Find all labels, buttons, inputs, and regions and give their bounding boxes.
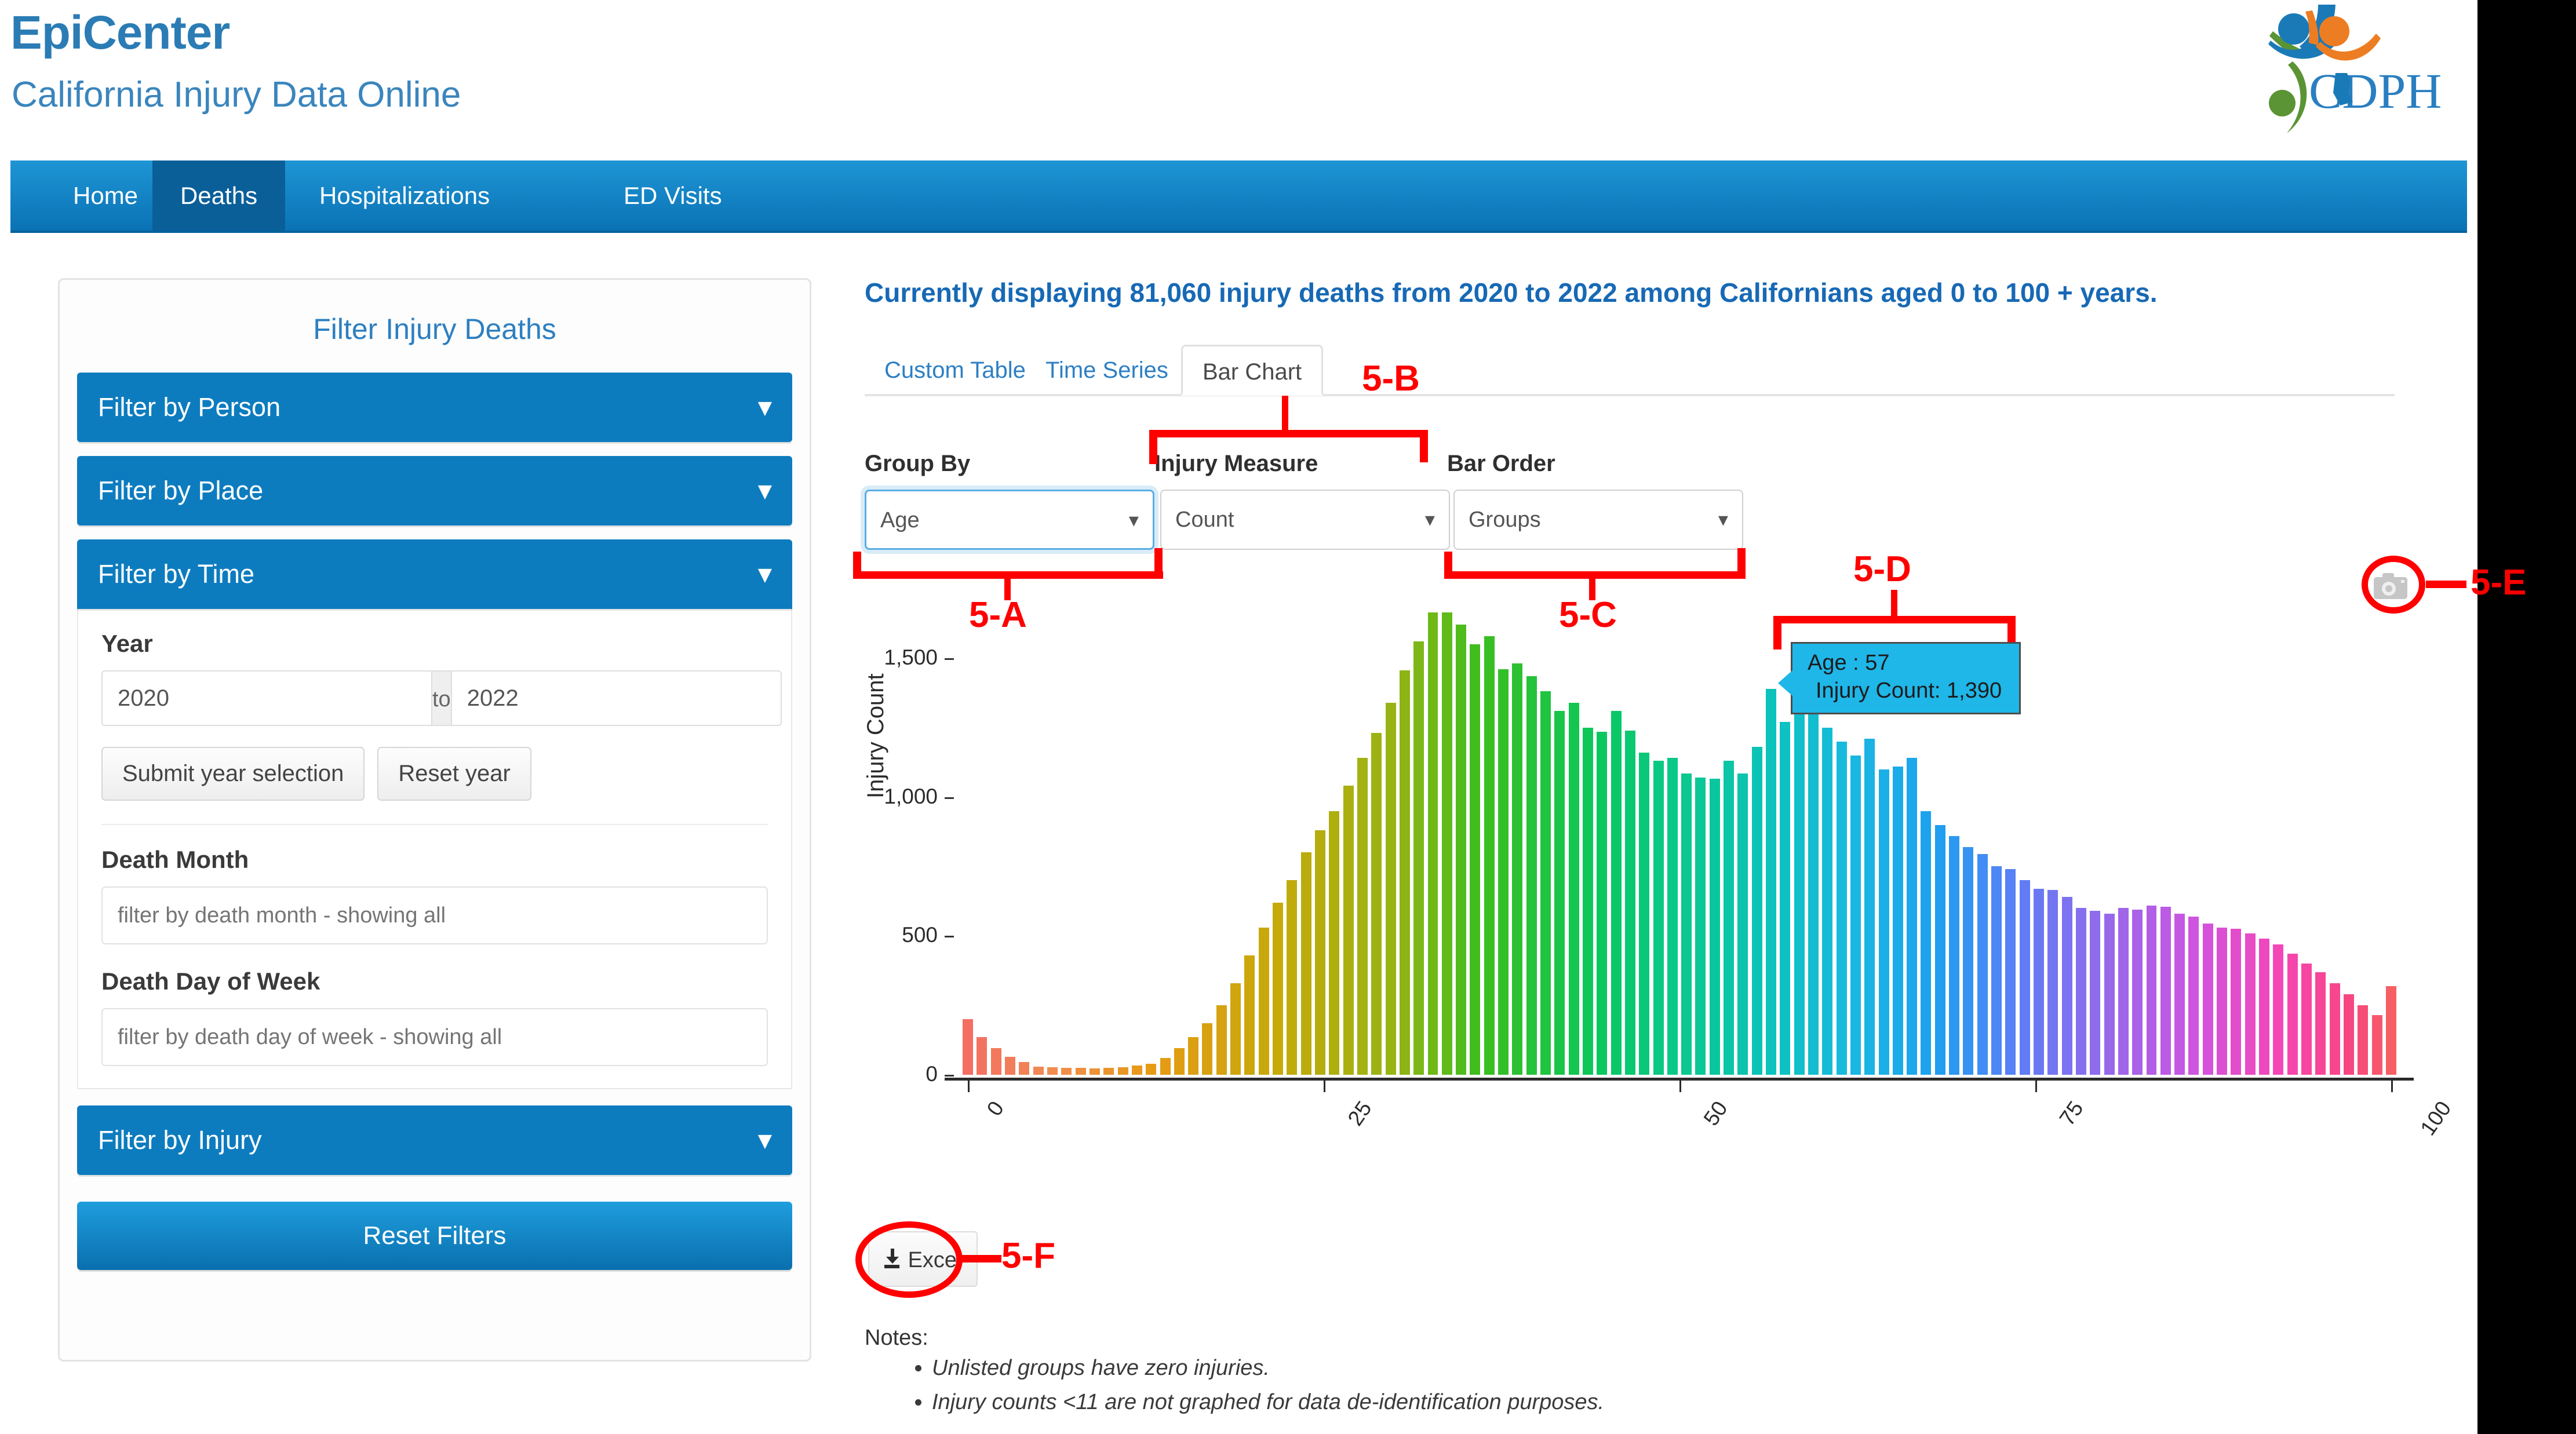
bar-chart-bar[interactable] <box>2259 939 2269 1075</box>
chevron-down-icon: ▾ <box>759 456 771 526</box>
accordion-label: Filter by Place <box>98 476 263 505</box>
bar-chart-bar[interactable] <box>1737 773 1748 1075</box>
annotation-5c-right <box>1737 548 1746 578</box>
bar-chart-bar[interactable] <box>1949 836 1959 1075</box>
bar-chart-bar[interactable] <box>1498 669 1509 1075</box>
x-axis-tick-mark <box>968 1081 970 1092</box>
bar-chart-bar[interactable] <box>1977 854 1988 1075</box>
bar-chart-bar[interactable] <box>1005 1057 1015 1075</box>
main-navigation: Home Deaths Hospitalizations ED Visits <box>10 160 2467 233</box>
bar-chart-bar[interactable] <box>1540 691 1551 1075</box>
bar-chart-bar[interactable] <box>1329 811 1339 1075</box>
bar-chart-bar[interactable] <box>1230 983 1241 1075</box>
bar-chart-bar[interactable] <box>1724 761 1734 1075</box>
chevron-down-icon: ▾ <box>1425 491 1435 549</box>
annotation-label-5c: 5-C <box>1559 594 1617 636</box>
bar-chart-bar[interactable] <box>991 1048 1001 1075</box>
bar-chart-bar[interactable] <box>1611 711 1622 1075</box>
x-axis-tick-label: 0 <box>982 1097 1009 1121</box>
note-item: Injury counts <11 are not graphed for da… <box>932 1390 1604 1415</box>
tooltip-count: Injury Count: 1,390 <box>1808 677 2002 705</box>
year-from-input[interactable] <box>101 670 432 726</box>
bar-chart-bar[interactable] <box>2160 907 2171 1075</box>
filter-by-time-panel: Year to Submit year selection Reset year… <box>77 609 792 1089</box>
tab-time-series[interactable]: Time Series <box>1026 345 1188 396</box>
bar-chart-bar[interactable] <box>2386 986 2396 1075</box>
bar-chart-bar[interactable] <box>1287 880 1297 1075</box>
annotation-5d-stem <box>1891 590 1897 618</box>
tab-bar-chart[interactable]: Bar Chart <box>1181 345 1323 396</box>
notes-title: Notes: <box>865 1326 928 1351</box>
y-axis-tick-label: 500 <box>863 923 938 947</box>
y-axis-tick-mark <box>945 797 954 799</box>
bar-chart-bar[interactable] <box>2062 897 2072 1075</box>
bar-chart-bar[interactable] <box>1808 708 1819 1075</box>
bar-chart-bar[interactable] <box>2301 964 2312 1075</box>
bar-chart-bar[interactable] <box>1583 728 1593 1075</box>
bar-chart-bar[interactable] <box>1413 641 1424 1075</box>
bar-chart-bar[interactable] <box>2076 908 2086 1075</box>
bar-chart-bar[interactable] <box>2147 906 2157 1075</box>
bar-chart-bar[interactable] <box>1991 866 2002 1075</box>
bar-chart-bar[interactable] <box>2005 869 2016 1075</box>
annotation-5e-leader <box>2426 581 2466 588</box>
annotation-label-5b: 5-B <box>1362 358 1420 399</box>
bar-chart-bar[interactable] <box>1188 1037 1198 1075</box>
bar-chart-bar[interactable] <box>1061 1068 1072 1075</box>
accordion-filter-by-time[interactable]: Filter by Time ▾ <box>77 539 792 609</box>
bar-chart-bar[interactable] <box>1963 847 1973 1075</box>
bar-chart-bar[interactable] <box>1653 761 1664 1075</box>
bar-chart-bar[interactable] <box>2203 924 2213 1075</box>
y-axis-tick-label: 1,000 <box>863 784 938 809</box>
y-axis-tick-mark <box>945 936 954 937</box>
bar-chart-bar[interactable] <box>1357 758 1368 1075</box>
bar-chart-bar[interactable] <box>1639 753 1649 1075</box>
bar-chart-bar[interactable] <box>2372 1015 2382 1075</box>
bar-chart-bar[interactable] <box>963 1019 973 1075</box>
bar-chart-bar[interactable] <box>1146 1064 1156 1075</box>
bar-chart-bar[interactable] <box>1400 670 1410 1075</box>
year-to-input[interactable] <box>451 670 782 726</box>
year-label: Year <box>101 630 768 658</box>
y-axis-tick-label: 1,500 <box>863 645 938 670</box>
bar-chart[interactable]: Injury Count 05001,0001,500 0255075100 <box>863 579 2417 1188</box>
view-tabs: Custom Table Time Series Bar Chart <box>865 345 2395 396</box>
bar-chart-bar[interactable] <box>1921 811 1931 1075</box>
annotation-5b-right <box>1420 430 1428 462</box>
year-buttons-row: Submit year selection Reset year <box>101 747 768 801</box>
x-axis-tick-label: 50 <box>1699 1097 1733 1130</box>
bar-chart-bar[interactable] <box>1907 758 1917 1075</box>
bar-chart-bar[interactable] <box>1837 742 1847 1075</box>
bar-chart-bar[interactable] <box>2118 908 2129 1075</box>
bar-chart-bar[interactable] <box>1597 732 1607 1075</box>
bar-chart-bar[interactable] <box>2245 933 2256 1075</box>
bar-chart-bar[interactable] <box>1864 739 1875 1075</box>
viewport-right-band <box>2477 0 2576 1434</box>
bar-chart-bar[interactable] <box>2231 929 2241 1075</box>
accordion-label: Filter by Person <box>98 392 280 422</box>
bar-chart-plot <box>961 603 2398 1075</box>
bar-chart-bar[interactable] <box>2174 914 2185 1075</box>
accordion-label: Filter by Time <box>98 559 254 589</box>
camera-icon <box>2373 571 2409 600</box>
bar-chart-bar[interactable] <box>977 1037 987 1075</box>
bar-chart-bar[interactable] <box>1625 731 1635 1075</box>
annotation-5b-stem <box>1282 396 1288 432</box>
bar-chart-bar[interactable] <box>2217 928 2227 1075</box>
bar-chart-bar[interactable] <box>1752 747 1762 1075</box>
bar-chart-bar[interactable] <box>1343 786 1354 1075</box>
bar-chart-bar[interactable] <box>2315 972 2326 1075</box>
bar-chart-bar[interactable] <box>1569 703 1579 1075</box>
camera-button[interactable] <box>2367 568 2414 604</box>
bar-order-label: Bar Order <box>1447 451 1555 477</box>
bar-chart-bar[interactable] <box>1273 903 1283 1075</box>
bar-chart-bar[interactable] <box>1371 733 1382 1075</box>
bar-chart-bar[interactable] <box>2330 983 2340 1075</box>
tooltip-age: Age : 57 <box>1808 650 2002 677</box>
bar-chart-bar[interactable] <box>1681 773 1692 1075</box>
x-axis-tick-mark <box>2391 1081 2393 1092</box>
bar-chart-bar[interactable] <box>2344 994 2354 1075</box>
bar-chart-bar[interactable] <box>2034 889 2044 1075</box>
y-axis-label: Injury Count <box>863 673 889 798</box>
bar-chart-bar[interactable] <box>1766 689 1776 1075</box>
chevron-down-icon: ▾ <box>1718 491 1728 549</box>
death-day-of-week-label: Death Day of Week <box>101 968 768 995</box>
x-axis-tick-label: 100 <box>2415 1097 2456 1140</box>
nav-item-home[interactable]: Home <box>45 160 166 231</box>
cdph-logo: CDPH <box>2237 5 2469 144</box>
bar-chart-bar[interactable] <box>1315 830 1325 1075</box>
group-by-label: Group By <box>865 451 970 477</box>
bar-chart-bar[interactable] <box>2188 917 2199 1075</box>
note-item: Unlisted groups have zero injuries. <box>932 1356 1604 1381</box>
bar-chart-bar[interactable] <box>2358 1005 2368 1075</box>
x-axis-tick-mark <box>1324 1081 1325 1092</box>
annotation-5b-left <box>1149 437 1157 464</box>
brand-subtitle: California Injury Data Online <box>12 74 461 115</box>
svg-text:CDPH: CDPH <box>2309 63 2442 119</box>
brand-title: EpiCenter <box>10 6 229 60</box>
bar-chart-bar[interactable] <box>1442 612 1452 1075</box>
death-month-input[interactable] <box>101 886 768 944</box>
death-month-label: Death Month <box>101 846 768 874</box>
annotation-label-5a: 5-A <box>969 594 1027 636</box>
accordion-filter-by-person[interactable]: Filter by Person ▾ <box>77 373 792 442</box>
nav-item-ed-visits[interactable]: ED Visits <box>596 160 750 231</box>
page-header: EpiCenter California Injury Data Online … <box>0 0 2477 158</box>
group-by-select[interactable]: Age ▾ <box>865 490 1154 550</box>
bar-chart-bar[interactable] <box>1935 825 1945 1075</box>
chevron-down-icon: ▾ <box>759 373 771 442</box>
bar-chart-bar[interactable] <box>1822 728 1832 1075</box>
bar-chart-bar[interactable] <box>1202 1023 1212 1075</box>
y-axis-tick-mark <box>945 1075 954 1077</box>
y-axis-tick-mark <box>945 658 954 660</box>
bar-chart-bar[interactable] <box>2047 890 2058 1075</box>
bar-chart-bar[interactable] <box>1470 644 1480 1075</box>
bar-chart-bar[interactable] <box>1780 722 1790 1075</box>
bar-chart-bar[interactable] <box>2273 944 2283 1075</box>
bar-chart-bar[interactable] <box>1244 955 1255 1075</box>
accordion-filter-by-place[interactable]: Filter by Place ▾ <box>77 456 792 526</box>
bar-chart-bar[interactable] <box>1526 676 1537 1075</box>
x-axis-tick-label: 25 <box>1343 1097 1377 1130</box>
bar-chart-bar[interactable] <box>1174 1048 1185 1075</box>
bar-chart-bar[interactable] <box>2090 911 2100 1075</box>
death-day-of-week-input[interactable] <box>101 1008 768 1066</box>
chevron-down-icon: ▾ <box>759 1105 771 1175</box>
notes-list: Unlisted groups have zero injuries. Inju… <box>911 1356 1604 1424</box>
annotation-5f-ellipse <box>855 1221 963 1298</box>
bar-order-select[interactable]: Groups ▾ <box>1453 490 1743 550</box>
injury-measure-label: Injury Measure <box>1154 451 1318 477</box>
x-axis-tick-mark <box>1679 1081 1681 1092</box>
divider <box>101 824 768 825</box>
bar-chart-bar[interactable] <box>1076 1068 1086 1075</box>
bar-chart-bar[interactable] <box>2287 954 2298 1075</box>
tab-custom-table[interactable]: Custom Table <box>865 345 1045 396</box>
x-axis-tick-mark <box>2035 1081 2037 1092</box>
accordion-filter-by-injury[interactable]: Filter by Injury ▾ <box>77 1105 792 1175</box>
bar-chart-bar[interactable] <box>1879 769 1889 1075</box>
bar-chart-bar[interactable] <box>1118 1067 1128 1075</box>
bar-chart-bar[interactable] <box>1794 714 1805 1075</box>
annotation-5a-right <box>1154 548 1163 578</box>
bar-chart-bar[interactable] <box>1456 625 1466 1075</box>
nav-item-deaths[interactable]: Deaths <box>152 160 285 231</box>
injury-measure-select[interactable]: Count ▾ <box>1160 490 1450 550</box>
nav-item-hospitalizations[interactable]: Hospitalizations <box>292 160 518 231</box>
bar-chart-bar[interactable] <box>1103 1068 1114 1075</box>
bar-chart-bar[interactable] <box>2020 880 2030 1075</box>
bar-chart-bar[interactable] <box>1428 612 1438 1075</box>
year-range-row: to <box>101 670 768 726</box>
bar-chart-bar[interactable] <box>1386 703 1396 1075</box>
annotation-5f-leader <box>961 1255 1001 1262</box>
y-axis-tick-label: 0 <box>863 1062 938 1086</box>
bar-chart-bar[interactable] <box>1090 1068 1100 1075</box>
chart-tooltip: Age : 57 Injury Count: 1,390 <box>1791 642 2021 714</box>
x-axis-tick-label: 75 <box>2054 1097 2088 1130</box>
bar-chart-bar[interactable] <box>2132 910 2143 1075</box>
bar-chart-bar[interactable] <box>1301 852 1311 1075</box>
accordion-label: Filter by Injury <box>98 1125 262 1155</box>
page-headline: Currently displaying 81,060 injury death… <box>865 277 2158 308</box>
annotation-label-5e: 5-E <box>2471 562 2526 603</box>
chevron-down-icon: ▾ <box>759 539 771 609</box>
bar-chart-bar[interactable] <box>1033 1067 1044 1075</box>
bar-chart-bar[interactable] <box>1047 1067 1058 1075</box>
annotation-label-5d: 5-D <box>1853 549 1911 590</box>
annotation-label-5f: 5-F <box>1001 1235 1055 1276</box>
submit-year-selection-button[interactable]: Submit year selection <box>101 747 365 801</box>
bar-chart-bar[interactable] <box>1132 1066 1142 1075</box>
bar-chart-bar[interactable] <box>1850 756 1861 1075</box>
bar-chart-bar[interactable] <box>1667 758 1678 1075</box>
group-by-value: Age <box>880 508 920 532</box>
bar-chart-bar[interactable] <box>2104 914 2115 1075</box>
bar-order-value: Groups <box>1469 508 1541 532</box>
bar-chart-bar[interactable] <box>1216 1005 1227 1075</box>
bar-chart-bar[interactable] <box>1710 779 1720 1075</box>
bar-chart-bar[interactable] <box>1160 1058 1171 1075</box>
year-range-separator: to <box>432 670 451 726</box>
annotation-5b-bar <box>1149 430 1427 437</box>
injury-measure-value: Count <box>1175 508 1234 532</box>
reset-year-button[interactable]: Reset year <box>377 747 531 801</box>
bar-chart-bar[interactable] <box>1484 636 1495 1075</box>
chevron-down-icon: ▾ <box>1129 491 1139 549</box>
bar-chart-bar[interactable] <box>1019 1062 1029 1075</box>
bar-chart-bar[interactable] <box>1695 778 1706 1075</box>
bar-chart-bar[interactable] <box>1893 767 1903 1075</box>
bar-chart-bar[interactable] <box>1512 663 1522 1075</box>
filter-sidebar: Filter Injury Deaths Filter by Person ▾ … <box>58 278 811 1362</box>
bar-chart-bar[interactable] <box>1259 928 1269 1075</box>
bar-chart-bar[interactable] <box>1554 711 1565 1075</box>
reset-filters-button[interactable]: Reset Filters <box>77 1202 792 1270</box>
sidebar-title: Filter Injury Deaths <box>60 312 810 346</box>
